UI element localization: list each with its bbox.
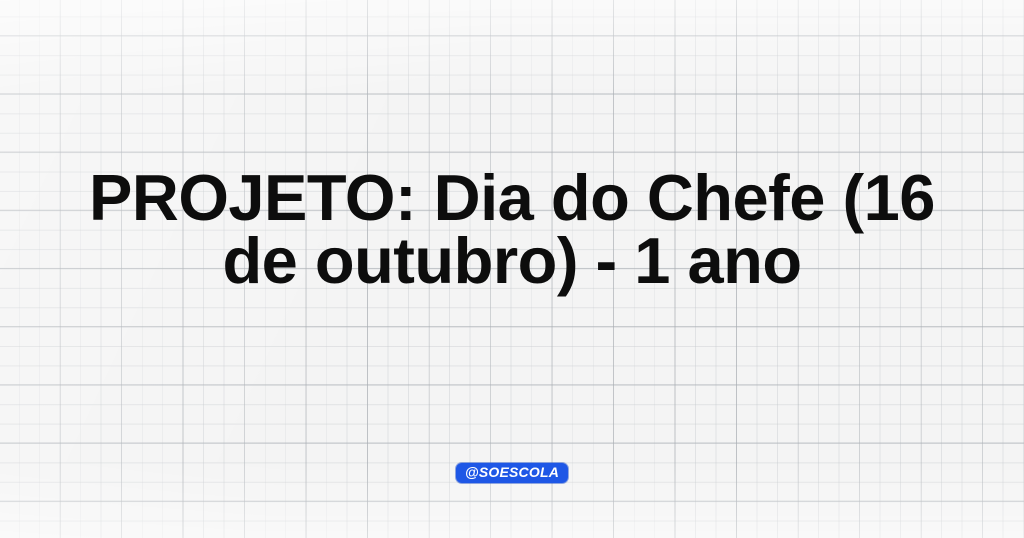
- slide-canvas: PROJETO: Dia do Chefe (16 de outubro) - …: [0, 0, 1024, 538]
- title-block: PROJETO: Dia do Chefe (16 de outubro) - …: [0, 166, 1024, 292]
- watermark-badge: @SOESCOLA: [456, 463, 568, 483]
- watermark-label: @SOESCOLA: [465, 465, 559, 480]
- page-title: PROJETO: Dia do Chefe (16 de outubro) - …: [48, 166, 976, 292]
